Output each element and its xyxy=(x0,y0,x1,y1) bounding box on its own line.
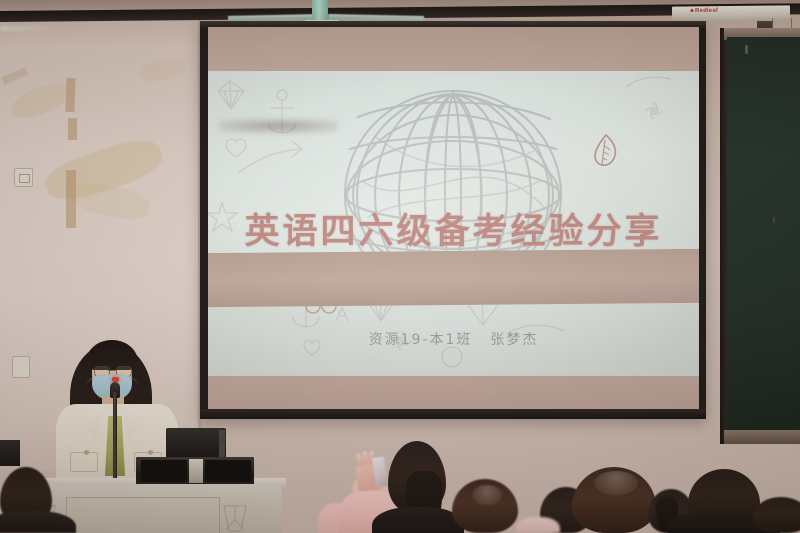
wall-socket[interactable] xyxy=(12,356,30,378)
slide: 英语四六级备考经验分享 资源19-本1班张梦杰 xyxy=(208,71,699,376)
slide-subtitle-class: 资源19-本1班 xyxy=(369,332,473,348)
tape-residue xyxy=(66,170,76,228)
audience-shoulder xyxy=(516,517,560,533)
blackboard-trim xyxy=(724,430,800,444)
blackboard xyxy=(727,37,800,437)
wall-socket[interactable] xyxy=(14,168,33,187)
coat-button xyxy=(148,450,153,455)
presenter-fringe xyxy=(88,348,136,364)
projection-screen: 英语四六级备考经验分享 资源19-本1班张梦杰 xyxy=(200,21,706,417)
coat-pocket xyxy=(70,452,98,472)
console-panel xyxy=(141,460,187,482)
tape-residue xyxy=(65,78,75,112)
chalk-mark xyxy=(773,217,775,223)
console-panel xyxy=(205,460,251,482)
classroom-photo-scene: Redleaf xyxy=(0,0,800,533)
slide-subtitle-name: 张梦杰 xyxy=(490,332,538,348)
screen-bottom-bar xyxy=(200,409,706,419)
screen-unlit-bottom xyxy=(208,376,699,411)
side-equipment-box xyxy=(0,440,20,466)
lectern-panel xyxy=(66,497,220,533)
slide-title: 英语四六级备考经验分享 xyxy=(208,203,699,254)
projector-brand-label: Redleaf xyxy=(690,8,718,14)
monitor-edge xyxy=(219,430,225,458)
coat-button xyxy=(84,450,89,455)
microphone-stand xyxy=(113,392,117,486)
lectern-motif-icon xyxy=(222,502,248,533)
hair-highlight xyxy=(472,485,502,505)
screen-band xyxy=(208,249,699,307)
chalk-mark xyxy=(745,45,748,54)
redleaf-logo-icon xyxy=(690,9,694,13)
slide-subtitle: 资源19-本1班张梦杰 xyxy=(208,329,699,349)
audience-shoulder xyxy=(372,507,464,533)
screen-surface: 英语四六级备考经验分享 资源19-本1班张梦杰 xyxy=(208,27,699,411)
hair-highlight xyxy=(594,471,638,495)
podium-monitor xyxy=(166,428,226,460)
console-center-panel xyxy=(189,459,203,483)
ceiling-light xyxy=(0,26,54,31)
leaf-icon xyxy=(593,134,619,168)
cast-shadow xyxy=(218,119,338,133)
tape-residue xyxy=(68,118,77,140)
screen-unlit-top xyxy=(208,27,699,71)
